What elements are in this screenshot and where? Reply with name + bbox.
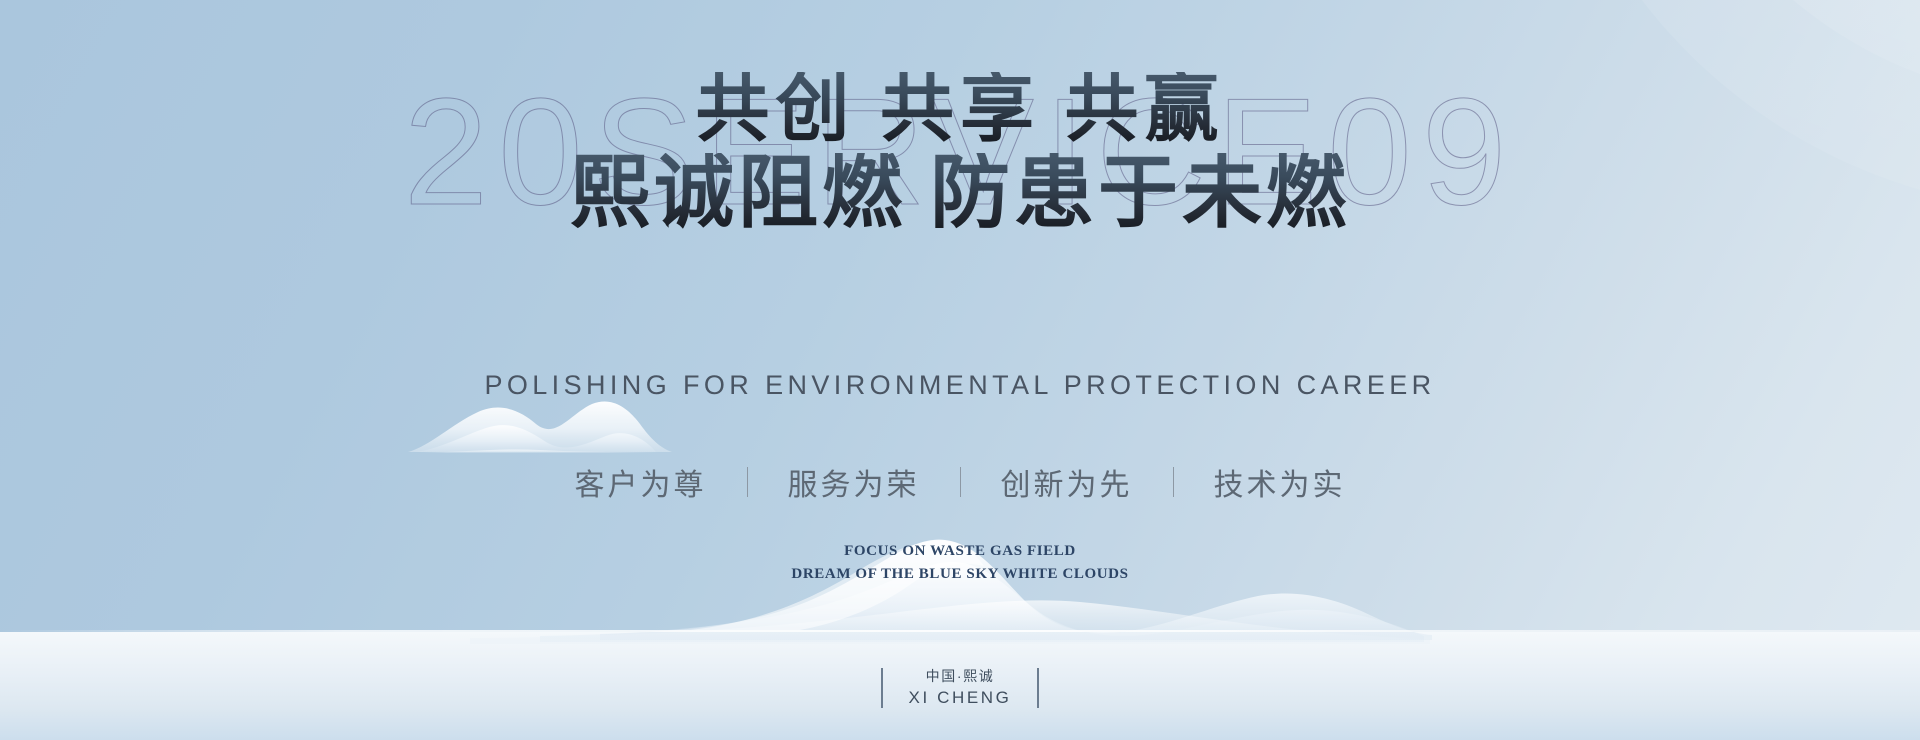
value-separator-1 [747, 467, 748, 497]
headline-line-1: 共创 共享 共赢 [0, 72, 1920, 149]
value-separator-3 [1173, 467, 1174, 497]
value-separator-2 [960, 467, 961, 497]
serif-subtitle-block: FOCUS ON WASTE GAS FIELD DREAM OF THE BL… [0, 540, 1920, 585]
banner-stage: 20SERVICE09 共创 共享 共赢 熙诚阻燃 防患于未燃 [0, 0, 1920, 740]
logo-english-name: XI CHENG [909, 687, 1012, 710]
value-item-4: 技术为实 [1214, 460, 1346, 504]
logo-divider-right [1037, 668, 1039, 708]
footer-logo: 中国·熙诚 XI CHENG [0, 666, 1920, 710]
headline-block: 共创 共享 共赢 熙诚阻燃 防患于未燃 [0, 72, 1920, 236]
value-item-2: 服务为荣 [788, 460, 920, 504]
logo-chinese-name: 中国·熙诚 [909, 666, 1012, 687]
headline-line-2: 熙诚阻燃 防患于未燃 [0, 153, 1920, 236]
left-cloud-cluster [408, 401, 672, 453]
english-tagline: POLISHING FOR ENVIRONMENTAL PROTECTION C… [0, 370, 1920, 401]
logo-text-block: 中国·熙诚 XI CHENG [909, 666, 1012, 710]
value-item-1: 客户为尊 [575, 460, 707, 504]
values-row: 客户为尊 服务为荣 创新为先 技术为实 [0, 460, 1920, 504]
serif-subtitle-line-1: FOCUS ON WASTE GAS FIELD [0, 540, 1920, 563]
serif-subtitle-line-2: DREAM OF THE BLUE SKY WHITE CLOUDS [0, 563, 1920, 586]
horizon-line [0, 630, 1920, 632]
logo-divider-left [881, 668, 883, 708]
value-item-3: 创新为先 [1001, 460, 1133, 504]
